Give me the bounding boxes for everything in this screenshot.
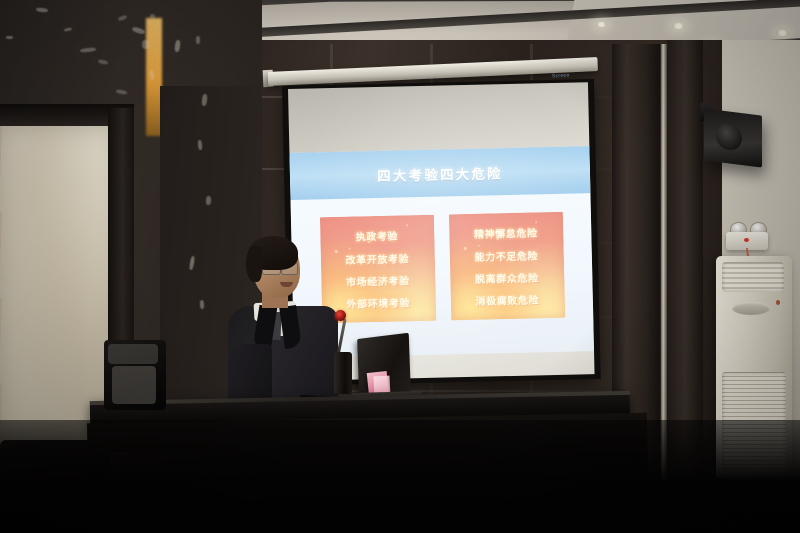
air-conditioner-indicator-icon bbox=[776, 300, 780, 305]
slide-card-line: 精神懈怠危险 bbox=[474, 225, 538, 241]
foreground-chair bbox=[0, 440, 120, 533]
slide-card-line: 执政考验 bbox=[355, 228, 398, 244]
card-sparkle-icon bbox=[406, 224, 408, 226]
emergency-led-icon bbox=[744, 238, 749, 242]
card-sparkle-icon bbox=[478, 245, 480, 247]
stacked-chair-seat bbox=[112, 366, 156, 404]
wall-paint-speck bbox=[200, 300, 205, 309]
slide-card-line: 外部环境考验 bbox=[346, 295, 410, 311]
card-sparkle-icon bbox=[464, 247, 467, 250]
stacked-chair-highlight bbox=[108, 344, 158, 364]
card-sparkle-icon bbox=[535, 221, 537, 223]
desk-highlight bbox=[208, 480, 218, 485]
card-sparkle-icon bbox=[329, 224, 330, 225]
slide-card-line: 能力不足危险 bbox=[474, 247, 538, 263]
microphone-base bbox=[334, 352, 352, 394]
foreground-chair bbox=[110, 452, 250, 533]
slide-card-line: 消极腐败危险 bbox=[475, 292, 539, 308]
slide-title-band: 四大考验四大危险 bbox=[289, 146, 590, 200]
wall-paint-speck bbox=[142, 40, 149, 49]
wood-pillar-secondary bbox=[667, 40, 703, 510]
lecture-hall-photo: Screen 四大考验四大危险 执政考验改革开放考验市场经济考验外部环境考验 精… bbox=[0, 0, 800, 533]
slide-card-four-dangers: 精神懈怠危险能力不足危险脱离群众危险消极腐败危险 bbox=[448, 212, 564, 320]
presenter-hair-side bbox=[246, 246, 262, 282]
air-conditioner-logo bbox=[732, 302, 770, 315]
desk-highlight bbox=[126, 476, 138, 481]
wall-paint-speck bbox=[6, 36, 13, 39]
slide-title: 四大考验四大危险 bbox=[377, 162, 503, 185]
screen-brand-logo: Screen bbox=[552, 73, 570, 80]
card-sparkle-icon bbox=[458, 221, 459, 222]
air-conditioner-vent bbox=[722, 262, 784, 292]
card-sparkle-icon bbox=[349, 248, 351, 250]
slide-card-line: 改革开放考验 bbox=[345, 250, 409, 266]
air-conditioner-grille bbox=[722, 372, 786, 472]
ceiling-downlight-icon bbox=[596, 22, 607, 27]
microphone-head-icon bbox=[335, 310, 346, 321]
ceiling-downlight-icon bbox=[776, 30, 789, 36]
ceiling-downlight-icon bbox=[672, 23, 685, 29]
wall-paint-speck bbox=[196, 36, 200, 44]
slide-card-line: 市场经济考验 bbox=[346, 272, 410, 288]
slide-card-line: 脱离群众危险 bbox=[475, 269, 539, 285]
wall-paint-speck bbox=[150, 14, 155, 19]
